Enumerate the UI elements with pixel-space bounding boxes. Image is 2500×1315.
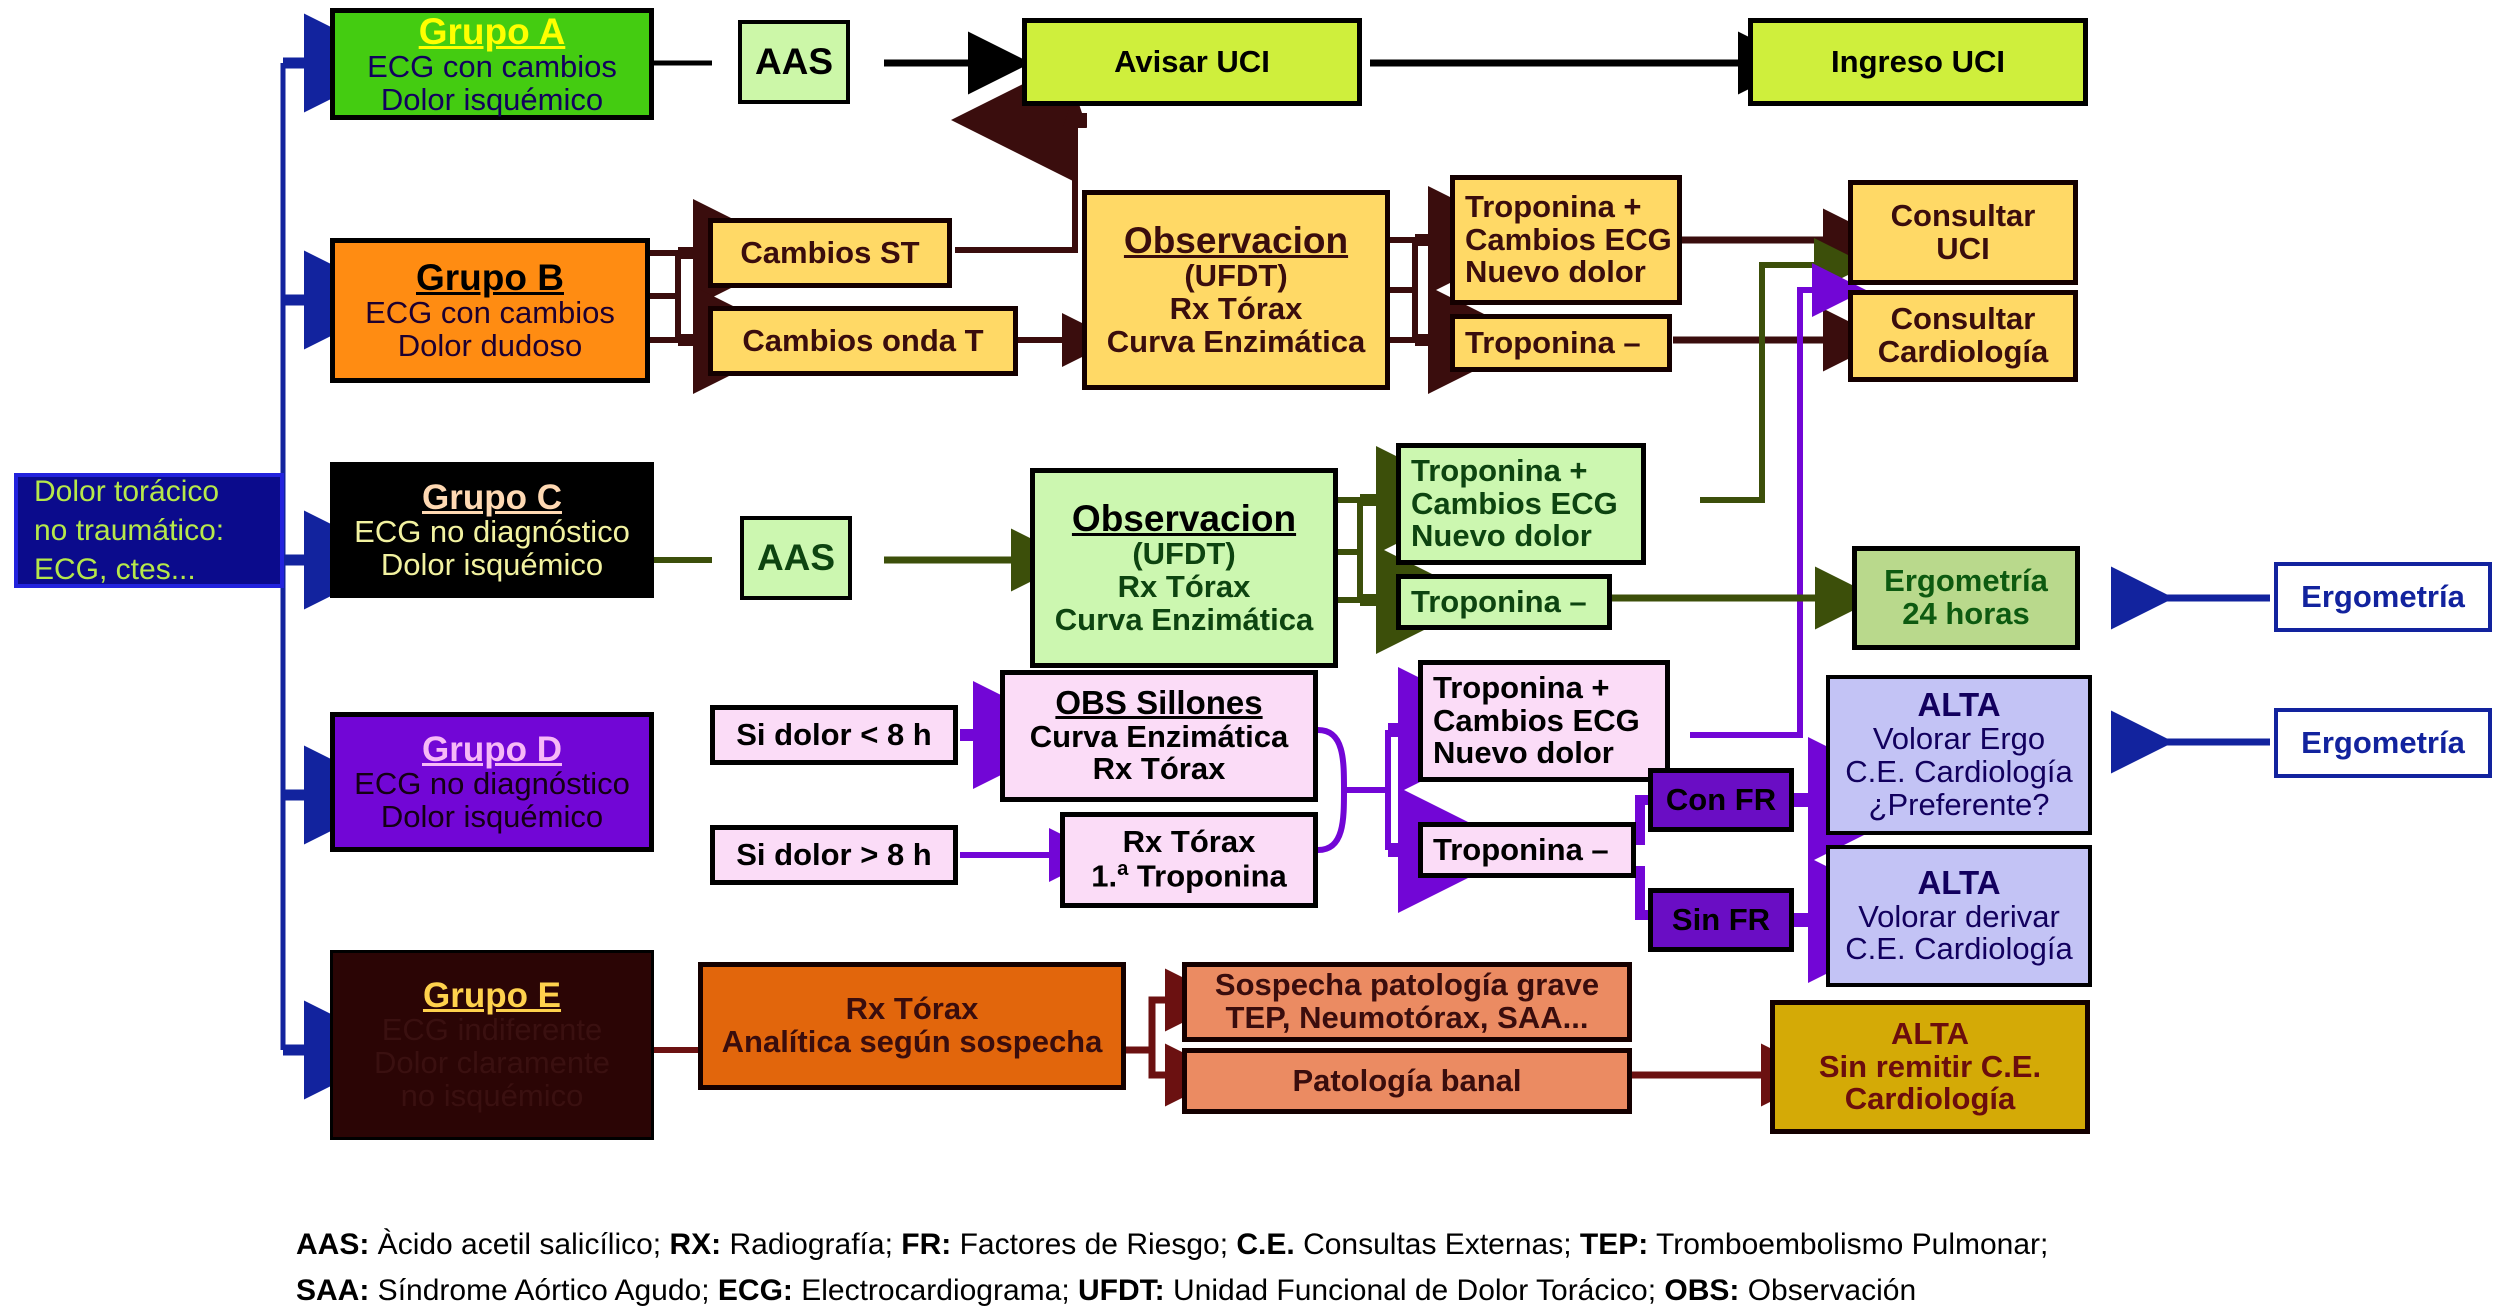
rx-torax-primera-troponina-box[interactable]: Rx Tórax 1.a Troponina	[1060, 812, 1318, 908]
legend-definition: Electrocardiograma;	[793, 1274, 1078, 1307]
sospecha-grave-line-2: TEP, Neumotórax, SAA...	[1226, 1002, 1589, 1035]
trop-pos-d-line-2: Cambios ECG	[1433, 705, 1640, 738]
group-c-aas-label: AAS	[757, 538, 835, 577]
ergometria-side-box-1[interactable]: Ergometría	[2274, 562, 2492, 632]
group-b-line-2: Dolor dudoso	[398, 330, 582, 363]
legend-definition: Síndrome Aórtico Agudo;	[369, 1274, 718, 1307]
troponina-positiva-c-box[interactable]: Troponina + Cambios ECG Nuevo dolor	[1396, 443, 1646, 565]
group-d-line-1: ECG no diagnóstico	[354, 768, 630, 801]
group-e-node[interactable]: Grupo E ECG indiferente Dolor claramente…	[330, 950, 654, 1140]
group-e-title: Grupo E	[423, 977, 561, 1014]
ergometria-side-label-1: Ergometría	[2301, 581, 2465, 614]
legend-term: TEP:	[1580, 1228, 1648, 1261]
consultar-uci-line-2: UCI	[1936, 233, 1989, 266]
group-e-line-2: Dolor claramente	[374, 1047, 610, 1080]
alta-1-title: ALTA	[1917, 688, 2000, 723]
alta-2-line-2: C.E. Cardiología	[1845, 933, 2072, 966]
patologia-banal-label: Patología banal	[1292, 1065, 1521, 1098]
si-dolor-mayor-8h-box[interactable]: Si dolor > 8 h	[710, 825, 958, 885]
alta-1-line-1: Volorar Ergo	[1873, 723, 2045, 756]
group-a-line-1: ECG con cambios	[367, 51, 617, 84]
observacion-c-line-1: (UFDT)	[1132, 538, 1235, 571]
group-b-node[interactable]: Grupo B ECG con cambios Dolor dudoso	[330, 238, 650, 383]
obs-sillones-line-1: Curva Enzimática	[1030, 721, 1288, 754]
cambios-onda-t-box[interactable]: Cambios onda T	[708, 306, 1018, 376]
legend-term: AAS:	[296, 1228, 369, 1261]
legend-definition: Tromboembolismo Pulmonar;	[1648, 1228, 2048, 1261]
troponina-positiva-d-box[interactable]: Troponina + Cambios ECG Nuevo dolor	[1418, 660, 1670, 782]
sin-fr-box[interactable]: Sin FR	[1648, 888, 1794, 952]
legend-term: ECG:	[718, 1274, 793, 1307]
group-a-aas-label: AAS	[755, 42, 833, 81]
group-a-title: Grupo A	[419, 12, 566, 51]
alta-3-title: ALTA	[1891, 1018, 1969, 1051]
legend-definition: Àcido acetil salicílico;	[369, 1228, 669, 1261]
start-line-1: Dolor torácico	[34, 472, 219, 511]
group-c-line-2: Dolor isquémico	[381, 549, 603, 582]
trop-neg-d-label: Troponina –	[1433, 834, 1609, 867]
cambios-onda-t-label: Cambios onda T	[742, 325, 983, 358]
legend-term: SAA:	[296, 1274, 369, 1307]
observacion-c-line-3: Curva Enzimática	[1055, 604, 1313, 637]
si-dolor-menor-8h-label: Si dolor < 8 h	[736, 719, 932, 752]
flowchart-canvas: Dolor torácico no traumático: ECG, ctes.…	[0, 0, 2500, 1312]
consultar-uci-box[interactable]: Consultar UCI	[1848, 180, 2078, 285]
ingreso-uci-label: Ingreso UCI	[1831, 46, 2005, 79]
legend-term: C.E.	[1236, 1228, 1294, 1261]
observacion-b-line-3: Curva Enzimática	[1107, 326, 1365, 359]
patologia-banal-box[interactable]: Patología banal	[1182, 1048, 1632, 1114]
troponina-negativa-c-box[interactable]: Troponina –	[1396, 574, 1612, 630]
ingreso-uci-box[interactable]: Ingreso UCI	[1748, 18, 2088, 106]
trop-pos-d-line-3: Nuevo dolor	[1433, 737, 1614, 770]
observacion-b-line-1: (UFDT)	[1184, 260, 1287, 293]
group-d-title: Grupo D	[422, 731, 562, 768]
legend-term: RX:	[669, 1228, 721, 1261]
legend-line-1: AAS: Àcido acetil salicílico; RX: Radiog…	[296, 1222, 2048, 1269]
trop-pos-c-line-1: Troponina +	[1411, 455, 1588, 488]
consultar-card-line-1: Consultar	[1891, 303, 2036, 336]
observacion-c-line-2: Rx Tórax	[1118, 571, 1251, 604]
legend-term: UFDT:	[1078, 1274, 1165, 1307]
alta-1-line-3: ¿Preferente?	[1869, 789, 2050, 822]
legend-term: FR:	[901, 1228, 951, 1261]
legend-definition: Unidad Funcional de Dolor Torácico;	[1165, 1274, 1665, 1307]
obs-sillones-box[interactable]: OBS Sillones Curva Enzimática Rx Tórax	[1000, 670, 1318, 802]
alta-valorar-derivar-box[interactable]: ALTA Volorar derivar C.E. Cardiología	[1826, 845, 2092, 987]
sin-fr-label: Sin FR	[1672, 904, 1770, 937]
legend-term: OBS:	[1664, 1274, 1739, 1307]
group-d-line-2: Dolor isquémico	[381, 801, 603, 834]
trop-pos-b-line-2: Cambios ECG	[1465, 224, 1672, 257]
group-a-node[interactable]: Grupo A ECG con cambios Dolor isquémico	[330, 8, 654, 120]
con-fr-box[interactable]: Con FR	[1648, 768, 1794, 832]
avisar-uci-label: Avisar UCI	[1114, 46, 1270, 79]
troponina-negativa-d-box[interactable]: Troponina –	[1418, 822, 1636, 878]
alta-1-line-2: C.E. Cardiología	[1845, 756, 2072, 789]
si-dolor-menor-8h-box[interactable]: Si dolor < 8 h	[710, 705, 958, 765]
ergometria-side-box-2[interactable]: Ergometría	[2274, 708, 2492, 778]
legend-definition: Radiografía;	[721, 1228, 901, 1261]
trop-neg-c-label: Troponina –	[1411, 586, 1587, 619]
ergometria-24h-line-2: 24 horas	[1902, 598, 2030, 631]
ergometria-side-label-2: Ergometría	[2301, 727, 2465, 760]
sospecha-grave-line-1: Sospecha patología grave	[1215, 969, 1599, 1002]
rx-torax-analitica-box[interactable]: Rx Tórax Analítica según sospecha	[698, 962, 1126, 1090]
legend-definition: Factores de Riesgo;	[951, 1228, 1236, 1261]
ergometria-24h-line-1: Ergometría	[1884, 565, 2048, 598]
sospecha-patologia-grave-box[interactable]: Sospecha patología grave TEP, Neumotórax…	[1182, 962, 1632, 1042]
legend-line-2: SAA: Síndrome Aórtico Agudo; ECG: Electr…	[296, 1268, 1916, 1315]
legend-definition: Consultas Externas;	[1295, 1228, 1580, 1261]
obs-sillones-line-2: Rx Tórax	[1093, 753, 1226, 786]
trop-pos-d-line-1: Troponina +	[1433, 672, 1610, 705]
cambios-st-label: Cambios ST	[740, 237, 919, 270]
ergometria-24-horas-box[interactable]: Ergometría 24 horas	[1852, 546, 2080, 650]
alta-2-title: ALTA	[1917, 866, 2000, 901]
observacion-c-title: Observacion	[1072, 499, 1296, 538]
group-a-line-2: Dolor isquémico	[381, 84, 603, 117]
group-d-node[interactable]: Grupo D ECG no diagnóstico Dolor isquémi…	[330, 712, 654, 852]
alta-3-line-1: Sin remitir C.E.	[1819, 1051, 2041, 1084]
alta-sin-remitir-box[interactable]: ALTA Sin remitir C.E. Cardiología	[1770, 1000, 2090, 1134]
group-e-line-3: no isquémico	[401, 1080, 584, 1113]
group-b-title: Grupo B	[416, 258, 564, 297]
group-c-aas-box[interactable]: AAS	[740, 516, 852, 600]
group-e-line-1: ECG indiferente	[382, 1014, 603, 1047]
consultar-uci-line-1: Consultar	[1891, 200, 2036, 233]
troponina-positiva-b-box[interactable]: Troponina + Cambios ECG Nuevo dolor	[1450, 175, 1682, 305]
obs-sillones-title: OBS Sillones	[1055, 686, 1262, 721]
trop-pos-c-line-3: Nuevo dolor	[1411, 520, 1592, 553]
cambios-st-box[interactable]: Cambios ST	[708, 218, 952, 288]
legend-definition: Observación	[1739, 1274, 1916, 1307]
rx-torax-d-label: Rx Tórax	[1123, 826, 1256, 859]
rx-torax-e-label: Rx Tórax	[846, 993, 979, 1026]
alta-3-line-2: Cardiología	[1845, 1083, 2016, 1116]
observacion-c-box[interactable]: Observacion (UFDT) Rx Tórax Curva Enzimá…	[1030, 468, 1338, 668]
troponina-negativa-b-box[interactable]: Troponina –	[1450, 314, 1672, 372]
alta-2-line-1: Volorar derivar	[1858, 901, 2060, 934]
group-c-node[interactable]: Grupo C ECG no diagnóstico Dolor isquémi…	[330, 462, 654, 598]
consultar-cardiologia-box[interactable]: Consultar Cardiología	[1848, 290, 2078, 382]
trop-neg-b-label: Troponina –	[1465, 327, 1641, 360]
trop-pos-c-line-2: Cambios ECG	[1411, 488, 1618, 521]
group-b-line-1: ECG con cambios	[365, 297, 615, 330]
group-c-title: Grupo C	[422, 479, 562, 516]
si-dolor-mayor-8h-label: Si dolor > 8 h	[736, 839, 932, 872]
consultar-card-line-2: Cardiología	[1878, 336, 2049, 369]
analitica-sospecha-label: Analítica según sospecha	[722, 1026, 1103, 1059]
group-a-aas-box[interactable]: AAS	[738, 20, 850, 104]
observacion-b-box[interactable]: Observacion (UFDT) Rx Tórax Curva Enzimá…	[1082, 190, 1390, 390]
con-fr-label: Con FR	[1666, 784, 1776, 817]
observacion-b-line-2: Rx Tórax	[1170, 293, 1303, 326]
observacion-b-title: Observacion	[1124, 221, 1348, 260]
trop-pos-b-line-1: Troponina +	[1465, 191, 1642, 224]
trop-pos-b-line-3: Nuevo dolor	[1465, 256, 1646, 289]
alta-valorar-ergo-box[interactable]: ALTA Volorar Ergo C.E. Cardiología ¿Pref…	[1826, 675, 2092, 835]
start-line-3: ECG, ctes...	[34, 550, 196, 589]
start-node-chest-pain[interactable]: Dolor torácico no traumático: ECG, ctes.…	[14, 473, 284, 588]
group-c-line-1: ECG no diagnóstico	[354, 516, 630, 549]
avisar-uci-box[interactable]: Avisar UCI	[1022, 18, 1362, 106]
primera-troponina-label: 1.a Troponina	[1091, 859, 1287, 893]
start-line-2: no traumático:	[34, 511, 224, 550]
